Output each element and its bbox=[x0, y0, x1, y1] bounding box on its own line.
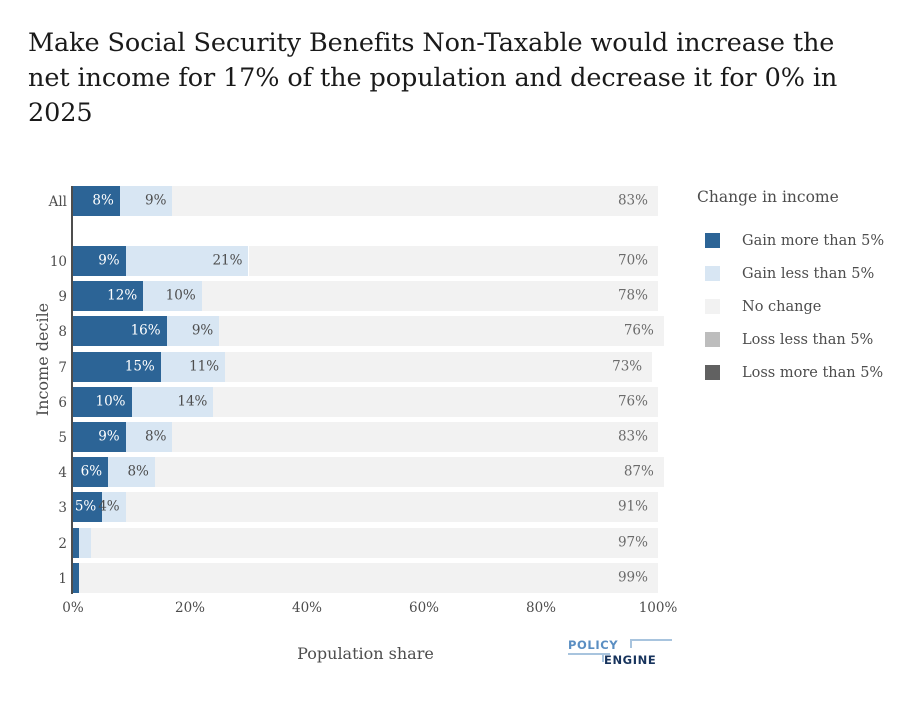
legend-item[interactable]: Gain less than 5% bbox=[697, 257, 897, 290]
y-axis-title: Income decile bbox=[33, 303, 52, 416]
bar-segment[interactable]: 76% bbox=[219, 316, 664, 346]
bar-segment[interactable]: 6% bbox=[73, 457, 108, 487]
bar-segment[interactable]: 97% bbox=[91, 528, 658, 558]
bar-segment[interactable]: 8% bbox=[108, 457, 155, 487]
legend-item[interactable]: No change bbox=[697, 290, 897, 323]
legend-item-label: Gain more than 5% bbox=[742, 233, 884, 249]
legend-item-label: Loss more than 5% bbox=[742, 365, 883, 381]
bar-segment[interactable]: 99% bbox=[79, 563, 658, 593]
bar-row[interactable]: 12%10%78% bbox=[73, 281, 658, 311]
bar-segment[interactable]: 76% bbox=[213, 387, 658, 417]
bar-segment[interactable]: 73% bbox=[225, 352, 652, 382]
legend-swatch-icon bbox=[705, 233, 720, 248]
bar-segment-label: 78% bbox=[618, 289, 648, 303]
bar-segment-label: 4% bbox=[98, 501, 119, 515]
logo-text-engine: ENGINE bbox=[604, 655, 656, 667]
bar-segment[interactable]: 10% bbox=[73, 387, 132, 417]
bar-segment-label: 99% bbox=[618, 571, 648, 585]
bar-segment[interactable]: 9% bbox=[73, 246, 126, 276]
bar-segment[interactable] bbox=[79, 528, 91, 558]
bar-row[interactable]: 15%11%73% bbox=[73, 352, 658, 382]
legend-item-label: Gain less than 5% bbox=[742, 266, 874, 282]
bar-segment-label: 70% bbox=[618, 254, 648, 268]
bar-segment-label: 9% bbox=[98, 430, 119, 444]
bar-segment-label: 21% bbox=[212, 254, 242, 268]
bar-segment[interactable]: 91% bbox=[126, 492, 658, 522]
page-title: Make Social Security Benefits Non-Taxabl… bbox=[28, 26, 878, 131]
bar-segment-label: 8% bbox=[127, 465, 148, 479]
y-axis-tick-3: 3 bbox=[11, 500, 67, 516]
bar-row[interactable]: 99% bbox=[73, 563, 658, 593]
bar-row[interactable]: 6%8%87% bbox=[73, 457, 658, 487]
policyengine-logo: POLICY ENGINE bbox=[568, 639, 672, 667]
x-axis-tick: 60% bbox=[409, 600, 439, 616]
logo-rule-tick-top bbox=[630, 639, 632, 648]
legend-item[interactable]: Loss more than 5% bbox=[697, 356, 897, 389]
bar-segment[interactable]: 9% bbox=[120, 186, 173, 216]
legend-swatch-icon bbox=[705, 332, 720, 347]
bar-segment-label: 10% bbox=[166, 289, 196, 303]
legend-item[interactable]: Gain more than 5% bbox=[697, 224, 897, 257]
y-axis-tick-5: 5 bbox=[11, 430, 67, 446]
bar-segment-label: 87% bbox=[624, 465, 654, 479]
bar-segment-label: 76% bbox=[624, 325, 654, 339]
bar-segment[interactable]: 8% bbox=[126, 422, 173, 452]
bar-segment[interactable]: 14% bbox=[132, 387, 214, 417]
legend-swatch-icon bbox=[705, 266, 720, 281]
x-axis-tick: 40% bbox=[292, 600, 322, 616]
bar-segment-label: 83% bbox=[618, 194, 648, 208]
bar-row[interactable]: 5%4%91% bbox=[73, 492, 658, 522]
y-axis-tick-10: 10 bbox=[11, 254, 67, 270]
logo-rule-tick-bottom bbox=[602, 653, 604, 662]
y-axis-tick-1: 1 bbox=[11, 571, 67, 587]
bar-segment-label: 76% bbox=[618, 395, 648, 409]
bar-segment[interactable]: 21% bbox=[126, 246, 249, 276]
legend-item-label: Loss less than 5% bbox=[742, 332, 873, 348]
bar-segment[interactable]: 4% bbox=[102, 492, 125, 522]
bar-segment-label: 14% bbox=[177, 395, 207, 409]
bar-row[interactable]: 16%9%76% bbox=[73, 316, 658, 346]
bar-segment[interactable]: 83% bbox=[172, 422, 658, 452]
bar-segment-label: 9% bbox=[145, 194, 166, 208]
chart-plot-area: 8%9%83%9%21%70%12%10%78%16%9%76%15%11%73… bbox=[73, 186, 658, 594]
legend-item-label: No change bbox=[742, 299, 821, 315]
y-axis-tick-2: 2 bbox=[11, 536, 67, 552]
bar-segment[interactable]: 9% bbox=[73, 422, 126, 452]
logo-rule-top bbox=[630, 639, 672, 641]
gridline bbox=[658, 186, 659, 594]
bar-segment[interactable]: 70% bbox=[249, 246, 659, 276]
bar-segment-label: 91% bbox=[618, 501, 648, 515]
legend-item[interactable]: Loss less than 5% bbox=[697, 323, 897, 356]
bar-segment[interactable]: 8% bbox=[73, 186, 120, 216]
bar-segment-label: 8% bbox=[92, 194, 113, 208]
legend-items: Gain more than 5%Gain less than 5%No cha… bbox=[697, 224, 897, 389]
bar-segment-label: 5% bbox=[75, 501, 96, 515]
bar-row[interactable]: 8%9%83% bbox=[73, 186, 658, 216]
bar-segment-label: 16% bbox=[131, 325, 161, 339]
bar-segment-label: 6% bbox=[81, 465, 102, 479]
y-axis-tick-4: 4 bbox=[11, 465, 67, 481]
bar-segment[interactable]: 12% bbox=[73, 281, 143, 311]
bar-segment-label: 83% bbox=[618, 430, 648, 444]
bar-segment-label: 11% bbox=[189, 360, 219, 374]
logo-text-policy: POLICY bbox=[568, 640, 618, 652]
legend-swatch-icon bbox=[705, 365, 720, 380]
bar-row[interactable]: 9%21%70% bbox=[73, 246, 658, 276]
bar-segment[interactable]: 15% bbox=[73, 352, 161, 382]
x-axis-tick: 20% bbox=[175, 600, 205, 616]
bar-segment-label: 97% bbox=[618, 536, 648, 550]
legend: Change in income Gain more than 5%Gain l… bbox=[697, 188, 897, 389]
legend-title: Change in income bbox=[697, 188, 897, 206]
bar-segment-label: 9% bbox=[192, 325, 213, 339]
bar-segment[interactable]: 87% bbox=[155, 457, 664, 487]
bar-segment-label: 73% bbox=[612, 360, 642, 374]
bar-segment[interactable]: 9% bbox=[167, 316, 220, 346]
bar-segment-label: 10% bbox=[95, 395, 125, 409]
x-axis-tick: 100% bbox=[639, 600, 678, 616]
bar-segment-label: 9% bbox=[98, 254, 119, 268]
x-axis-tick: 80% bbox=[526, 600, 556, 616]
y-axis-tick-all: All bbox=[11, 194, 67, 210]
bar-segment[interactable]: 83% bbox=[172, 186, 658, 216]
x-axis-tick: 0% bbox=[62, 600, 83, 616]
bar-segment[interactable]: 11% bbox=[161, 352, 225, 382]
bar-row[interactable]: 10%14%76% bbox=[73, 387, 658, 417]
bar-segment[interactable]: 10% bbox=[143, 281, 202, 311]
bar-segment-label: 8% bbox=[145, 430, 166, 444]
bar-row[interactable]: 97% bbox=[73, 528, 658, 558]
legend-swatch-icon bbox=[705, 299, 720, 314]
bar-segment-label: 12% bbox=[107, 289, 137, 303]
bar-row[interactable]: 9%8%83% bbox=[73, 422, 658, 452]
bar-segment-label: 15% bbox=[125, 360, 155, 374]
bar-segment[interactable]: 16% bbox=[73, 316, 167, 346]
bar-segment[interactable]: 78% bbox=[202, 281, 658, 311]
